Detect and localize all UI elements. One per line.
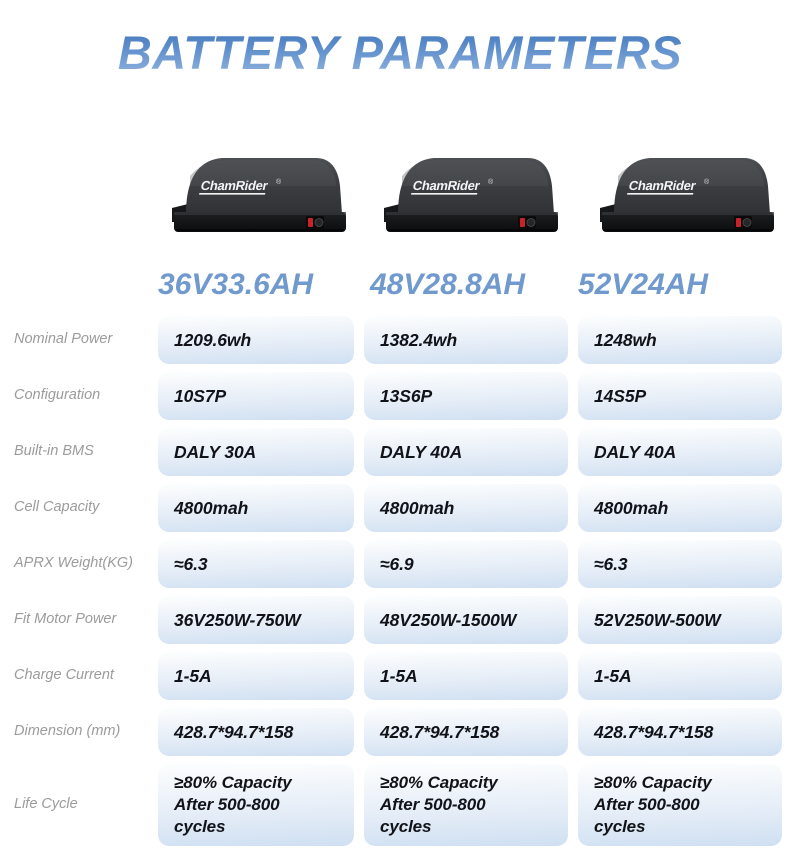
cell-aprx-weight-36v: ≈6.3 xyxy=(158,540,354,588)
cell-built-in-bms-52v: DALY 40A xyxy=(578,428,782,476)
cell-value: DALY 30A xyxy=(174,441,256,463)
cell-value: DALY 40A xyxy=(594,441,676,463)
cell-charge-current-48v: 1-5A xyxy=(364,652,568,700)
cell-dimension-52v: 428.7*94.7*158 xyxy=(578,708,782,756)
cell-fit-motor-power-52v: 52V250W-500W xyxy=(578,596,782,644)
table-row: Charge Current 1-5A 1-5A 1-5A xyxy=(0,652,800,700)
cell-value: 4800mah xyxy=(380,497,454,519)
page-title: BATTERY PARAMETERS xyxy=(0,28,800,77)
cell-value: ≥80% Capacity After 500-800 cycles xyxy=(174,772,292,837)
cell-built-in-bms-48v: DALY 40A xyxy=(364,428,568,476)
row-label-configuration: Configuration xyxy=(14,372,154,420)
column-header-row: 36V33.6AH 48V28.8AH 52V24AH xyxy=(0,268,800,310)
cell-cell-capacity-52v: 4800mah xyxy=(578,484,782,532)
cell-fit-motor-power-36v: 36V250W-750W xyxy=(158,596,354,644)
cell-value: DALY 40A xyxy=(380,441,462,463)
cell-value: 48V250W-1500W xyxy=(380,609,516,631)
cell-aprx-weight-52v: ≈6.3 xyxy=(578,540,782,588)
row-label-charge-current: Charge Current xyxy=(14,652,154,700)
table-row: Cell Capacity 4800mah 4800mah 4800mah xyxy=(0,484,800,532)
cell-value: 428.7*94.7*158 xyxy=(174,721,293,743)
svg-text:ChamRider: ChamRider xyxy=(411,178,481,193)
cell-charge-current-36v: 1-5A xyxy=(158,652,354,700)
cell-value: 1248wh xyxy=(594,329,657,351)
cell-dimension-48v: 428.7*94.7*158 xyxy=(364,708,568,756)
battery-image-row: ChamRider ® xyxy=(0,140,800,252)
battery-image-36v: ChamRider ® xyxy=(152,140,364,252)
row-label-nominal-power: Nominal Power xyxy=(14,316,154,364)
table-row: Life Cycle ≥80% Capacity After 500-800 c… xyxy=(0,764,800,846)
cell-life-cycle-48v: ≥80% Capacity After 500-800 cycles xyxy=(364,764,568,846)
cell-value: 10S7P xyxy=(174,385,226,407)
cell-life-cycle-36v: ≥80% Capacity After 500-800 cycles xyxy=(158,764,354,846)
row-label-dimension: Dimension (mm) xyxy=(14,708,154,756)
row-label-aprx-weight: APRX Weight(KG) xyxy=(14,540,154,588)
cell-value: ≈6.3 xyxy=(174,553,208,575)
table-row: Nominal Power 1209.6wh 1382.4wh 1248wh xyxy=(0,316,800,364)
cell-configuration-36v: 10S7P xyxy=(158,372,354,420)
cell-value: ≥80% Capacity After 500-800 cycles xyxy=(380,772,498,837)
cell-nominal-power-36v: 1209.6wh xyxy=(158,316,354,364)
cell-fit-motor-power-48v: 48V250W-1500W xyxy=(364,596,568,644)
table-row: Built-in BMS DALY 30A DALY 40A DALY 40A xyxy=(0,428,800,476)
cell-dimension-36v: 428.7*94.7*158 xyxy=(158,708,354,756)
cell-configuration-48v: 13S6P xyxy=(364,372,568,420)
table-row: Configuration 10S7P 13S6P 14S5P xyxy=(0,372,800,420)
cell-value: 4800mah xyxy=(594,497,668,519)
table-row: Dimension (mm) 428.7*94.7*158 428.7*94.7… xyxy=(0,708,800,756)
cell-value: 1-5A xyxy=(380,665,418,687)
svg-text:®: ® xyxy=(704,178,710,186)
cell-value: ≈6.9 xyxy=(380,553,414,575)
cell-nominal-power-52v: 1248wh xyxy=(578,316,782,364)
cell-cell-capacity-36v: 4800mah xyxy=(158,484,354,532)
cell-value: 4800mah xyxy=(174,497,248,519)
battery-image-52v: ChamRider ® xyxy=(580,140,792,252)
cell-built-in-bms-36v: DALY 30A xyxy=(158,428,354,476)
row-label-built-in-bms: Built-in BMS xyxy=(14,428,154,476)
column-header-36v: 36V33.6AH xyxy=(158,268,313,302)
spec-table: Nominal Power 1209.6wh 1382.4wh 1248wh C… xyxy=(0,316,800,854)
svg-text:®: ® xyxy=(488,178,494,186)
svg-text:®: ® xyxy=(276,178,282,186)
cell-value: 52V250W-500W xyxy=(594,609,721,631)
row-label-fit-motor-power: Fit Motor Power xyxy=(14,596,154,644)
column-header-52v: 52V24AH xyxy=(578,268,708,302)
cell-value: 14S5P xyxy=(594,385,646,407)
cell-value: 1-5A xyxy=(174,665,212,687)
cell-charge-current-52v: 1-5A xyxy=(578,652,782,700)
table-row: Fit Motor Power 36V250W-750W 48V250W-150… xyxy=(0,596,800,644)
cell-value: 1-5A xyxy=(594,665,632,687)
table-row: APRX Weight(KG) ≈6.3 ≈6.9 ≈6.3 xyxy=(0,540,800,588)
cell-value: 1209.6wh xyxy=(174,329,251,351)
cell-aprx-weight-48v: ≈6.9 xyxy=(364,540,568,588)
cell-value: ≥80% Capacity After 500-800 cycles xyxy=(594,772,712,837)
cell-value: 1382.4wh xyxy=(380,329,457,351)
column-header-48v: 48V28.8AH xyxy=(370,268,525,302)
cell-value: 428.7*94.7*158 xyxy=(594,721,713,743)
cell-nominal-power-48v: 1382.4wh xyxy=(364,316,568,364)
cell-value: 428.7*94.7*158 xyxy=(380,721,499,743)
cell-configuration-52v: 14S5P xyxy=(578,372,782,420)
cell-value: 36V250W-750W xyxy=(174,609,301,631)
cell-life-cycle-52v: ≥80% Capacity After 500-800 cycles xyxy=(578,764,782,846)
ebike-battery-icon: ChamRider ® xyxy=(166,146,352,242)
svg-text:ChamRider: ChamRider xyxy=(627,178,697,193)
row-label-cell-capacity: Cell Capacity xyxy=(14,484,154,532)
battery-image-48v: ChamRider ® xyxy=(364,140,576,252)
svg-text:ChamRider: ChamRider xyxy=(199,178,269,193)
cell-value: 13S6P xyxy=(380,385,432,407)
cell-cell-capacity-48v: 4800mah xyxy=(364,484,568,532)
cell-value: ≈6.3 xyxy=(594,553,628,575)
row-label-life-cycle: Life Cycle xyxy=(14,764,154,846)
ebike-battery-icon: ChamRider ® xyxy=(378,146,564,242)
ebike-battery-icon: ChamRider ® xyxy=(594,146,780,242)
